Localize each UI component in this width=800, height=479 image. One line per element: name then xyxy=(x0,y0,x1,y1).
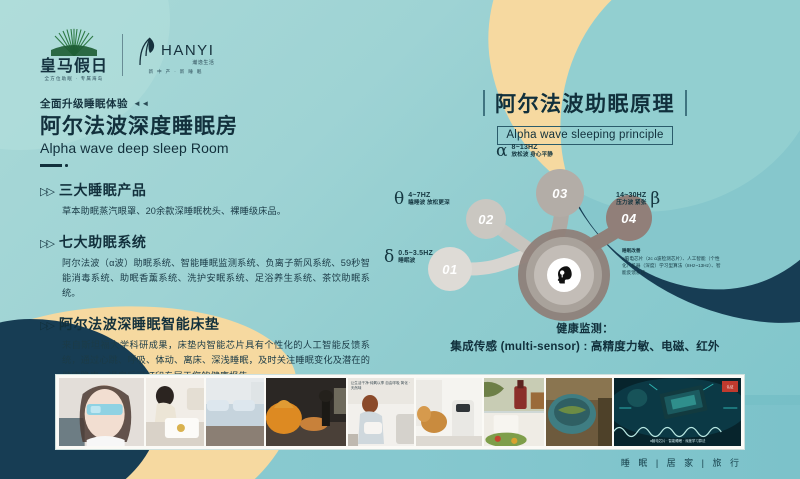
greek-alpha-icon: α xyxy=(496,143,507,160)
alpha-wave-diagram: 01 02 03 04 α 8~13HZ 放松波 身心平静 θ xyxy=(400,151,770,336)
eyebrow-line: 全面升级睡眠体验 ◄◄ xyxy=(40,96,370,111)
palm-fan-icon xyxy=(49,28,99,56)
principle-title-row: 阿尔法波助眠原理 xyxy=(400,88,770,118)
photo-caption: 让生活干净·纯氧以享 自由呼吸 简化 · 天然味 xyxy=(351,381,414,391)
logo-huangma: 皇马假日 全方位助眠 · 专属海岛 xyxy=(40,28,108,82)
photo-air-purifier-woman: 让生活干净·纯氧以享 自由呼吸 简化 · 天然味 xyxy=(348,378,414,446)
photo-herbal-bottle xyxy=(484,378,545,411)
page-title-english: Alpha wave deep sleep Room xyxy=(40,140,370,156)
section-title: 阿尔法波深睡眠智能床垫 xyxy=(59,314,220,334)
head-brain-icon xyxy=(547,258,581,292)
node-label: 01 xyxy=(442,262,457,277)
photo-alpha-chip-tech: 认证 α脑电芯片 · 智能睡眠 · 深度学习算法 xyxy=(614,378,741,446)
photo-strip: 让生活干净·纯氧以享 自由呼吸 简化 · 天然味 xyxy=(55,374,745,450)
hanyi-tagline: 新 中 产 · 新 睡 眠 xyxy=(149,69,203,75)
hanyi-chinese-name: 瀚逸生活 xyxy=(161,59,214,66)
brand-logo-row: 皇马假日 全方位助眠 · 专属海岛 HANYI 瀚逸生活 新 中 产 · 新 睡… xyxy=(40,28,214,82)
photo-herbal-tea-products xyxy=(484,378,545,446)
section-body: 草本助眠蒸汽眼罩、20余款深睡眠枕头、裸睡级床品。 xyxy=(62,204,370,219)
health-detail: 集成传感 (multi-sensor) : 高精度力敏、电磁、红外 xyxy=(400,338,770,354)
sleep-improvement-note: 睡眠改善 α脑电芯片（2c α波检测芯片）、人工智能（个性化）机器（深度）学习型… xyxy=(622,247,724,276)
logo-huangma-tagline: 全方位助眠 · 专属海岛 xyxy=(45,76,104,82)
eyebrow-arrow-icon: ◄◄ xyxy=(133,99,150,108)
eyebrow-text: 全面升级睡眠体验 xyxy=(40,96,128,111)
footer-tagline: 睡 眠 | 居 家 | 旅 行 xyxy=(621,456,742,469)
chevron-right-icon: ▷▷ xyxy=(40,187,53,198)
node-03: 03 xyxy=(536,169,584,217)
poster-root: 皇马假日 全方位助眠 · 专属海岛 HANYI 瀚逸生活 新 中 产 · 新 睡… xyxy=(0,0,800,479)
section-systems: ▷▷ 七大助眠系统 阿尔法波（α波）助眠系统、智能睡眠监测系统、负离子新风系统、… xyxy=(40,232,370,302)
greek-theta-icon: θ xyxy=(394,191,404,208)
left-content-column: 全面升级睡眠体验 ◄◄ 阿尔法波深度睡眠房 Alpha wave deep sl… xyxy=(40,96,370,384)
note-title: 睡眠改善 xyxy=(622,247,724,254)
photo-woman-making-bed xyxy=(146,378,204,446)
freq-desc: 放松波 身心平静 xyxy=(511,152,553,159)
freq-label-delta: δ 0.5~3.5HZ 睡眠波 xyxy=(384,249,433,266)
section-title: 三大睡眠产品 xyxy=(59,180,147,200)
title-rule xyxy=(40,164,370,167)
photo-aroma-diffuser xyxy=(266,378,346,446)
photo-air-purifier-dog xyxy=(416,378,482,446)
health-monitoring-block: 健康监测： 集成传感 (multi-sensor) : 高精度力敏、电磁、红外 xyxy=(400,320,770,354)
page-title: 阿尔法波深度睡眠房 xyxy=(40,115,370,138)
right-content-column: 阿尔法波助眠原理 Alpha wave sleeping principle xyxy=(400,88,770,336)
photo-caption: α脑电芯片 · 智能睡眠 · 深度学习算法 xyxy=(614,438,741,443)
freq-label-theta: θ 4~7HZ 瞌睡波 放松更深 xyxy=(394,191,450,208)
node-01: 01 xyxy=(428,247,472,291)
logo-divider xyxy=(122,34,123,76)
rule-bar xyxy=(40,164,62,167)
node-label: 03 xyxy=(552,186,567,201)
chevron-right-icon: ▷▷ xyxy=(40,239,53,250)
freq-desc: 睡眠波 xyxy=(398,258,433,265)
photo-bedroom-bedding xyxy=(206,378,264,446)
chevron-right-icon: ▷▷ xyxy=(40,321,53,332)
freq-label-alpha: α 8~13HZ 放松波 身心平静 xyxy=(496,143,553,160)
section-title: 七大助眠系统 xyxy=(59,232,147,252)
health-title: 健康监测： xyxy=(400,320,770,336)
section-body: 阿尔法波（α波）助眠系统、智能睡眠监测系统、负离子新风系统、59秒智能消毒系统、… xyxy=(62,256,370,302)
logo-hanyi: HANYI 瀚逸生活 新 中 产 · 新 睡 眠 xyxy=(137,36,214,75)
node-label: 04 xyxy=(621,211,636,226)
photo-tea-bowl xyxy=(546,378,612,446)
note-body: α脑电芯片（2c α波检测芯片）、人工智能（个性化）机器（深度）学习型算法（8H… xyxy=(622,256,721,275)
freq-desc: 压力波 紧张 xyxy=(616,200,646,207)
certification-badge: 认证 xyxy=(722,381,738,392)
hanyi-leaf-icon xyxy=(137,36,159,66)
freq-desc: 瞌睡波 放松更深 xyxy=(408,200,450,207)
photo-woman-sleep-mask xyxy=(59,378,144,446)
logo-huangma-name: 皇马假日 xyxy=(40,58,108,74)
photo-tea-salad xyxy=(484,413,545,446)
greek-beta-icon: β xyxy=(650,191,660,208)
freq-label-beta: 14~30HZ 压力波 紧张 β xyxy=(616,191,660,208)
title-accent-bar-right xyxy=(685,90,687,116)
rule-dot xyxy=(65,164,68,167)
node-label: 02 xyxy=(478,212,493,227)
title-accent-bar-left xyxy=(483,90,485,116)
hanyi-wordmark: HANYI xyxy=(161,43,214,58)
node-02: 02 xyxy=(466,199,506,239)
section-products: ▷▷ 三大睡眠产品 草本助眠蒸汽眼罩、20余款深睡眠枕头、裸睡级床品。 xyxy=(40,180,370,219)
principle-title: 阿尔法波助眠原理 xyxy=(495,88,675,118)
greek-delta-icon: δ xyxy=(384,249,394,266)
